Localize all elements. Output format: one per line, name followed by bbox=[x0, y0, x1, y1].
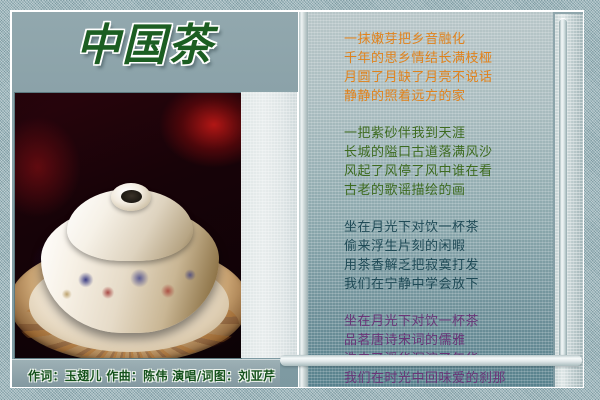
right-glass-rod bbox=[559, 18, 567, 363]
lyric-line: 月圆了月缺了月亮不说话 bbox=[344, 68, 549, 87]
lyrics-body: 一抹嫩芽把乡音融化 千年的思乡情结长满枝桠 月圆了月缺了月亮不说话 静静的照着远… bbox=[344, 30, 549, 388]
lyric-line: 古老的歌谣描绘的画 bbox=[344, 181, 549, 200]
lyric-line: 风起了风停了风中谁在看 bbox=[344, 162, 549, 181]
main-card: 中国茶 一抹嫩芽把乡音融化 千年的思乡情 bbox=[10, 10, 584, 388]
lyrics-stanza-1: 一抹嫩芽把乡音融化 千年的思乡情结长满枝桠 月圆了月缺了月亮不说话 静静的照着远… bbox=[344, 30, 549, 106]
lyric-line: 千年的思乡情结长满枝桠 bbox=[344, 49, 549, 68]
photo-vignette bbox=[15, 93, 241, 358]
page-backdrop: 中国茶 一抹嫩芽把乡音融化 千年的思乡情 bbox=[0, 0, 600, 400]
page-title: 中国茶 bbox=[76, 24, 214, 68]
credits-text: 作词：玉翅儿 作曲：陈伟 演唱/词图：刘亚芹 bbox=[28, 367, 275, 384]
lyrics-pane: 一抹嫩芽把乡音融化 千年的思乡情结长满枝桠 月圆了月缺了月亮不说话 静静的照着远… bbox=[308, 12, 553, 388]
tea-photo bbox=[14, 92, 242, 359]
lyric-line: 静静的照着远方的家 bbox=[344, 87, 549, 106]
lyrics-stanza-4: 坐在月光下对饮一杯茶 品茗唐诗宋词的儒雅 洗去了浮华沉淀了年华 我们在时光中回味… bbox=[344, 312, 549, 388]
lyric-line: 品茗唐诗宋词的儒雅 bbox=[344, 331, 549, 350]
lyric-line: 长城的隘口古道落满风沙 bbox=[344, 143, 549, 162]
lyric-line: 偷来浮生片刻的闲暇 bbox=[344, 237, 549, 256]
pale-panel-texture bbox=[241, 92, 297, 358]
lyric-line: 坐在月光下对饮一杯茶 bbox=[344, 218, 549, 237]
lyrics-stanza-3: 坐在月光下对饮一杯茶 偷来浮生片刻的闲暇 用茶香解乏把寂寞打发 我们在宁静中学会… bbox=[344, 218, 549, 294]
lyric-line: 我们在时光中回味爱的刹那 bbox=[344, 369, 549, 388]
lyric-line: 用茶香解乏把寂寞打发 bbox=[344, 256, 549, 275]
lyric-line: 一把紫砂伴我到天涯 bbox=[344, 124, 549, 143]
bottom-glass-rod bbox=[280, 355, 582, 366]
lyric-line: 一抹嫩芽把乡音融化 bbox=[344, 30, 549, 49]
lyric-line: 我们在宁静中学会放下 bbox=[344, 275, 549, 294]
lyrics-stanza-2: 一把紫砂伴我到天涯 长城的隘口古道落满风沙 风起了风停了风中谁在看 古老的歌谣描… bbox=[344, 124, 549, 200]
credits-strip: 作词：玉翅儿 作曲：陈伟 演唱/词图：刘亚芹 bbox=[12, 359, 280, 388]
lyric-line: 坐在月光下对饮一杯茶 bbox=[344, 312, 549, 331]
pale-side-panel bbox=[241, 92, 298, 358]
header-band: 中国茶 bbox=[12, 12, 302, 90]
